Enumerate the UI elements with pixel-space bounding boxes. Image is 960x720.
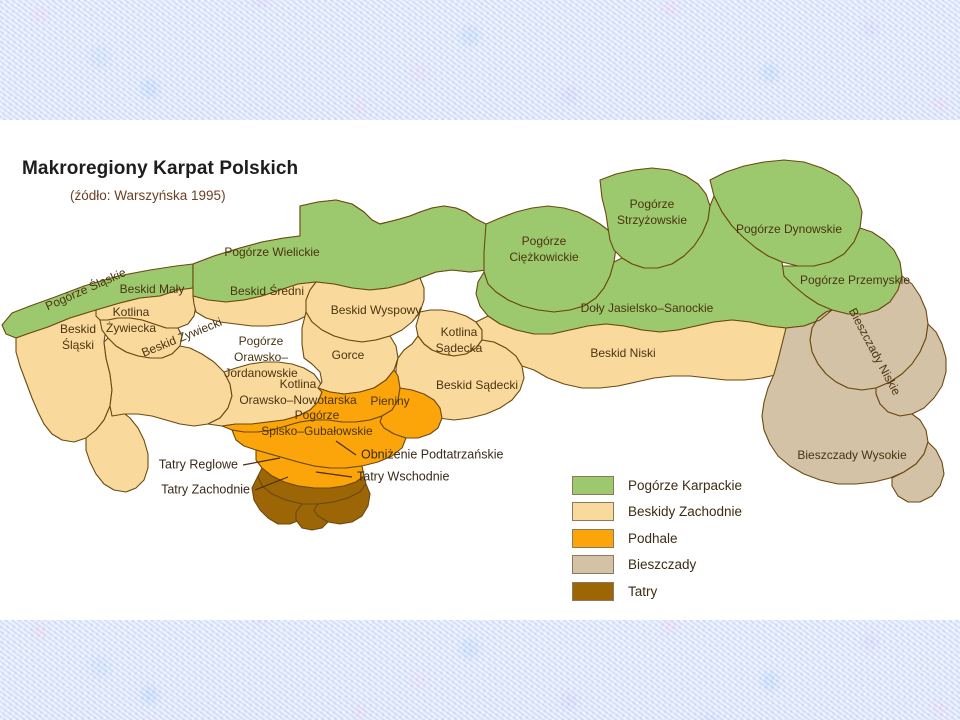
map-label-pogorze-ciezkowickie-2: Ciężkowickie: [509, 250, 579, 264]
map-label-kotlina-orawsko-nowotarska-2: Orawsko–Nowotarska: [239, 393, 357, 407]
legend-swatch-bieszczady: [572, 555, 614, 574]
legend-item[interactable]: Pogórze Karpackie: [572, 473, 742, 497]
legend-swatch-tatry: [572, 582, 614, 601]
map-label-gorce: Gorce: [332, 348, 365, 362]
decorative-texture-band-bottom: [0, 620, 960, 720]
map-label-pogorze-spisko-gubalowskie: Pogórze: [295, 408, 340, 422]
map-label-kotlina-orawsko-nowotarska: Kotlina: [280, 377, 317, 391]
map-label-kotlina-sadecka: Kotlina: [441, 325, 478, 339]
legend-label-tatry: Tatry: [628, 584, 657, 599]
map-label-pogorze-strzyzowskie-2: Strzyżowskie: [617, 213, 687, 227]
callout-label-tatry-wschodnie: Tatry Wschodnie: [357, 469, 449, 483]
map-label-beskid-niski: Beskid Niski: [590, 346, 655, 360]
map-label-pogorze-orawsko-jordanowskie: Pogórze: [239, 334, 284, 348]
legend-label-podhale: Podhale: [628, 531, 678, 546]
map-label-pogorze-strzyzowskie: Pogórze: [630, 197, 675, 211]
map-figure: Pogórze Śląskie Pogórze Wielickie Pogórz…: [0, 120, 960, 620]
map-label-bieszczady-wysokie: Bieszczady Wysokie: [797, 448, 907, 462]
slide-canvas: Makroregiony Karpat Polskich (źódło: War…: [0, 0, 960, 720]
map-label-beskid-maly: Beskid Mały: [120, 282, 185, 296]
map-legend: Pogórze Karpackie Beskidy Zachodnie Podh…: [572, 473, 742, 606]
legend-label-bieszczady: Bieszczady: [628, 557, 696, 572]
map-label-pogorze-spisko-gubalowskie-2: Spisko–Gubałowskie: [261, 424, 373, 438]
map-label-doly-jasielsko-sanockie: Doły Jasielsko–Sanockie: [581, 301, 714, 315]
map-label-pogorze-ciezkowickie: Pogórze: [522, 234, 567, 248]
legend-swatch-podhale: [572, 529, 614, 548]
callout-label-tatry-zachodnie: Tatry Zachodnie: [161, 482, 250, 496]
decorative-texture-band-top: [0, 0, 960, 120]
map-label-pieniny: Pieniny: [370, 394, 409, 408]
map-label-pogorze-orawsko-jordanowskie-2: Orawsko–: [234, 350, 288, 364]
legend-item[interactable]: Bieszczady: [572, 553, 742, 577]
map-label-pogorze-wielickie: Pogórze Wielickie: [224, 245, 320, 259]
map-label-kotlina-zywiecka-2: Żywiecka: [106, 321, 156, 335]
map-label-kotlina-zywiecka: Kotlina: [113, 305, 150, 319]
legend-label-pogorze-karpackie: Pogórze Karpackie: [628, 478, 742, 493]
map-label-beskid-slaski-2: Śląski: [62, 337, 94, 352]
callout-label-tatry-reglowe: Tatry Reglowe: [159, 457, 238, 471]
map-label-beskid-wyspowy: Beskid Wyspowy: [331, 303, 422, 317]
legend-item[interactable]: Beskidy Zachodnie: [572, 500, 742, 524]
map-label-pogorze-dynowskie: Pogórze Dynowskie: [736, 222, 842, 236]
map-label-beskid-sredni: Beskid Średni: [230, 283, 304, 298]
legend-label-beskidy-zachodnie: Beskidy Zachodnie: [628, 504, 742, 519]
legend-item[interactable]: Tatry: [572, 579, 742, 603]
legend-swatch-pogorze-karpackie: [572, 476, 614, 495]
map-label-pogorze-przemyskie: Pogórze Przemyskie: [800, 273, 910, 287]
legend-swatch-beskidy-zachodnie: [572, 502, 614, 521]
map-label-beskid-slaski: Beskid: [60, 322, 96, 336]
callout-label-obnizenie-podtatrzanskie: Obniżenie Podtatrzańskie: [361, 447, 503, 461]
map-label-beskid-sadecki: Beskid Sądecki: [436, 378, 518, 392]
map-label-kotlina-sadecka-2: Sądecka: [436, 341, 483, 355]
legend-item[interactable]: Podhale: [572, 526, 742, 550]
